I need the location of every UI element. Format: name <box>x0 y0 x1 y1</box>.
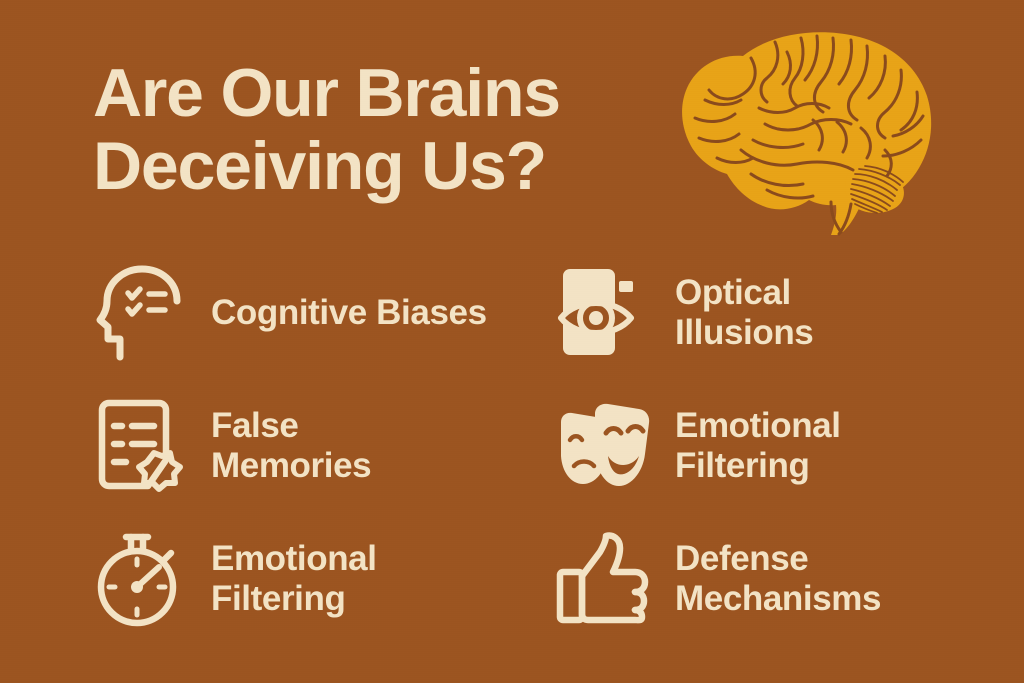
stopwatch-icon <box>93 529 189 629</box>
theater-masks-icon <box>553 396 653 496</box>
topic-item-cognitive-biases[interactable]: Cognitive Biases <box>93 246 553 379</box>
thumbs-up-icon <box>553 529 653 629</box>
topic-grid: Cognitive Biases <box>93 246 953 646</box>
topic-item-optical-illusions[interactable]: Optical Illusions <box>553 246 953 379</box>
topic-label: Optical Illusions <box>675 273 813 351</box>
topic-item-defense-mechanisms[interactable]: Defense Mechanisms <box>553 512 953 645</box>
topic-label: Emotional Filtering <box>675 406 841 484</box>
document-seal-icon <box>93 396 189 496</box>
page-title: Are Our Brains Deceiving Us? <box>93 57 653 204</box>
topic-label: Cognitive Biases <box>211 293 487 332</box>
topic-item-false-memories[interactable]: False Memories <box>93 379 553 512</box>
topic-item-emotional-filtering-stopwatch[interactable]: Emotional Filtering <box>93 512 553 645</box>
topic-label: False Memories <box>211 406 371 484</box>
topic-label: Defense Mechanisms <box>675 539 881 617</box>
head-profile-checklist-icon <box>93 263 189 363</box>
infographic-poster: Are Our Brains Deceiving Us? <box>0 0 1024 683</box>
camera-eye-icon <box>553 263 653 363</box>
brain-illustration-icon <box>655 22 945 237</box>
topic-item-emotional-filtering-masks[interactable]: Emotional Filtering <box>553 379 953 512</box>
topic-label: Emotional Filtering <box>211 539 377 617</box>
